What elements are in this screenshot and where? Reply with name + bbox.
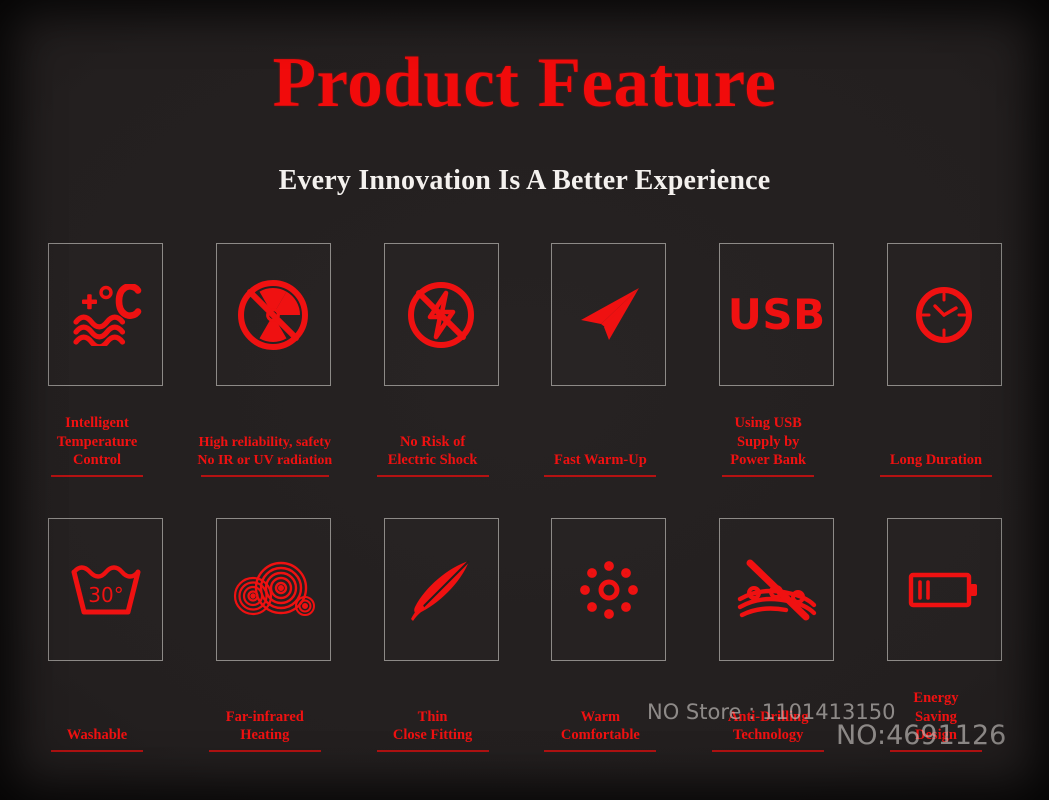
page-title: Product Feature xyxy=(0,48,1049,119)
far-infrared-waves-icon xyxy=(231,558,315,622)
sun-dots-icon xyxy=(576,557,642,623)
clock-icon xyxy=(913,284,975,346)
feature-label-box: High reliability, safety No IR or UV rad… xyxy=(190,386,340,481)
feature-label: Anti-Drilling Technology xyxy=(728,708,809,745)
anti-drilling-icon xyxy=(736,555,818,625)
title-container: Product Feature xyxy=(0,48,1049,119)
icon-frame xyxy=(48,243,163,386)
paper-plane-icon xyxy=(571,284,647,346)
feature-label: Fast Warm-Up xyxy=(554,451,647,470)
icon-frame: USB xyxy=(719,243,834,386)
temperature-waves-icon xyxy=(70,284,142,346)
label-underline xyxy=(201,475,329,477)
label-underline xyxy=(544,750,656,752)
feature-label: Washable xyxy=(67,726,127,745)
feature-item-long-duration: Long Duration xyxy=(887,243,1002,481)
icon-frame xyxy=(719,518,834,661)
feature-label: Using USB Supply by Power Bank xyxy=(730,414,806,470)
label-underline xyxy=(209,750,321,752)
icon-frame xyxy=(384,518,499,661)
feature-item-anti-drilling-technology: Anti-Drilling Technology xyxy=(719,518,834,756)
icon-frame xyxy=(216,243,331,386)
label-underline xyxy=(890,750,982,752)
feature-label: No Risk of Electric Shock xyxy=(388,433,478,470)
feature-label-box: Using USB Supply by Power Bank xyxy=(693,386,843,481)
feature-item-usb-power-bank: USB Using USB Supply by Power Bank xyxy=(719,243,834,481)
feature-label: Far-infrared Heating xyxy=(226,708,304,745)
label-underline xyxy=(51,750,143,752)
feature-item-fast-warm-up: Fast Warm-Up xyxy=(551,243,666,481)
svg-text:30°: 30° xyxy=(88,583,123,607)
feature-item-no-electric-shock: No Risk of Electric Shock xyxy=(384,243,499,481)
no-electric-shock-icon xyxy=(405,279,477,351)
feature-label-box: Thin Close Fitting xyxy=(358,661,508,756)
feature-item-warm-comfortable: Warm Comfortable xyxy=(551,518,666,756)
feature-label-box: Intelligent Temperature Control xyxy=(22,386,172,481)
feature-item-thin-close-fitting: Thin Close Fitting xyxy=(384,518,499,756)
feature-label-box: Warm Comfortable xyxy=(525,661,675,756)
feather-icon xyxy=(403,557,479,623)
feature-label: Long Duration xyxy=(890,451,982,470)
product-feature-poster: Product Feature Every Innovation Is A Be… xyxy=(0,0,1049,800)
feature-label: Energy Saving Design xyxy=(913,689,958,745)
subtitle-container: Every Innovation Is A Better Experience xyxy=(0,167,1049,195)
feature-label: Warm Comfortable xyxy=(561,708,640,745)
icon-frame xyxy=(887,243,1002,386)
feature-item-far-infrared-heating: Far-infrared Heating xyxy=(216,518,331,756)
feature-item-energy-saving-design: Energy Saving Design xyxy=(887,518,1002,756)
feature-item-intelligent-temperature-control: Intelligent Temperature Control xyxy=(48,243,163,481)
usb-text-icon: USB xyxy=(728,290,826,339)
label-underline xyxy=(722,475,814,477)
feature-label-box: Energy Saving Design xyxy=(861,661,1011,756)
label-underline xyxy=(377,475,489,477)
label-underline xyxy=(880,475,992,477)
label-underline xyxy=(544,475,656,477)
feature-item-washable: 30° Washable xyxy=(48,518,163,756)
battery-icon xyxy=(907,567,981,613)
feature-label-box: Long Duration xyxy=(861,386,1011,481)
icon-frame xyxy=(887,518,1002,661)
washable-30-icon: 30° xyxy=(66,560,146,620)
icon-frame xyxy=(384,243,499,386)
no-radiation-icon xyxy=(235,277,311,353)
feature-label-box: No Risk of Electric Shock xyxy=(358,386,508,481)
feature-label-box: Fast Warm-Up xyxy=(525,386,675,481)
icon-frame xyxy=(551,518,666,661)
feature-label: Intelligent Temperature Control xyxy=(57,414,138,470)
label-underline xyxy=(712,750,824,752)
feature-item-high-reliability: High reliability, safety No IR or UV rad… xyxy=(216,243,331,481)
label-underline xyxy=(51,475,143,477)
feature-label-box: Anti-Drilling Technology xyxy=(693,661,843,756)
feature-grid: Intelligent Temperature Control xyxy=(48,243,1002,756)
feature-label-box: Far-infrared Heating xyxy=(190,661,340,756)
feature-label: Thin Close Fitting xyxy=(393,708,472,745)
feature-label-box: Washable xyxy=(22,661,172,756)
icon-frame xyxy=(216,518,331,661)
feature-label: High reliability, safety No IR or UV rad… xyxy=(197,434,332,470)
page-subtitle: Every Innovation Is A Better Experience xyxy=(0,167,1049,195)
label-underline xyxy=(377,750,489,752)
icon-frame: 30° xyxy=(48,518,163,661)
icon-frame xyxy=(551,243,666,386)
